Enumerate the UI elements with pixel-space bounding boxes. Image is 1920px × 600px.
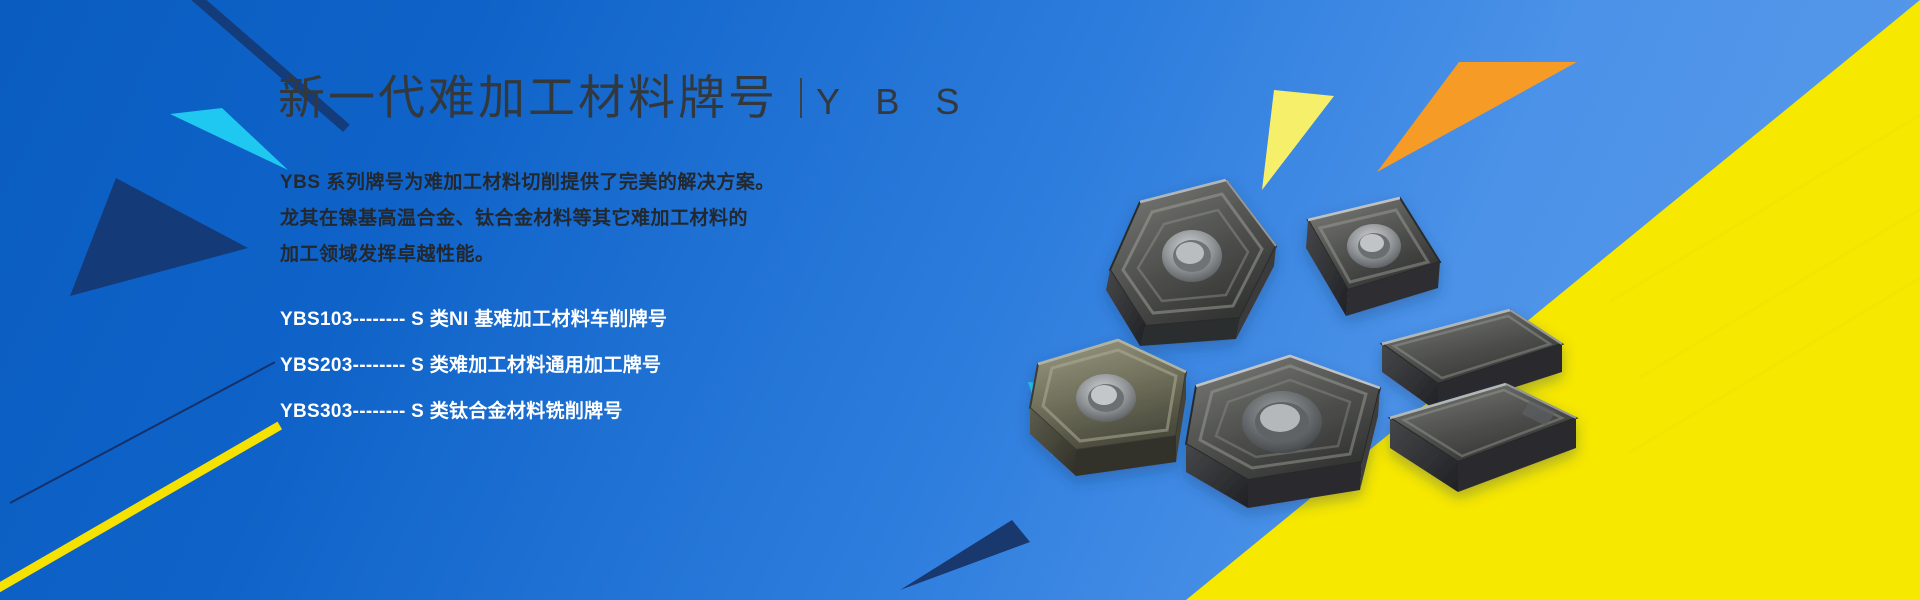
headline-chinese: 新一代难加工材料牌号 [278,74,778,121]
grade-list: YBS103-------- S 类NI 基难加工材料车削牌号 YBS203--… [280,306,667,426]
promo-banner: 新一代难加工材料牌号 Y B S YBS 系列牌号为难加工材料切削提供了完美的解… [0,0,1920,600]
pentagon-insert [1030,340,1186,476]
description-paragraph: YBS 系列牌号为难加工材料切削提供了完美的解决方案。 龙其在镍基高温合金、钛合… [280,165,775,273]
banner-copy: 新一代难加工材料牌号 Y B S YBS 系列牌号为难加工材料切削提供了完美的解… [278,0,1038,600]
wnmg-trigon-insert [1106,180,1276,346]
description-line-2: 龙其在镍基高温合金、钛合金材料等其它难加工材料的 [280,201,775,237]
decor-navy-bar [96,0,276,124]
grooving-bar-right [1390,384,1576,492]
cnmg-square-insert [1306,198,1440,316]
description-line-1: YBS 系列牌号为难加工材料切削提供了完美的解决方案。 [280,165,775,201]
page-title: 新一代难加工材料牌号 Y B S [278,74,972,123]
square-milling-insert [1186,356,1380,508]
grade-item-ybs103: YBS103-------- S 类NI 基难加工材料车削牌号 [280,306,667,334]
product-photo-carbide-inserts [990,150,1610,550]
grade-item-ybs203: YBS203-------- S 类难加工材料通用加工牌号 [280,352,667,380]
description-line-3: 加工领域发挥卓越性能。 [280,237,775,273]
headline-ybs: Y B S [816,81,972,123]
headline-separator [800,78,802,118]
grade-item-ybs303: YBS303-------- S 类钛合金材料铣削牌号 [280,398,667,426]
decor-navy-triangle [70,178,248,296]
